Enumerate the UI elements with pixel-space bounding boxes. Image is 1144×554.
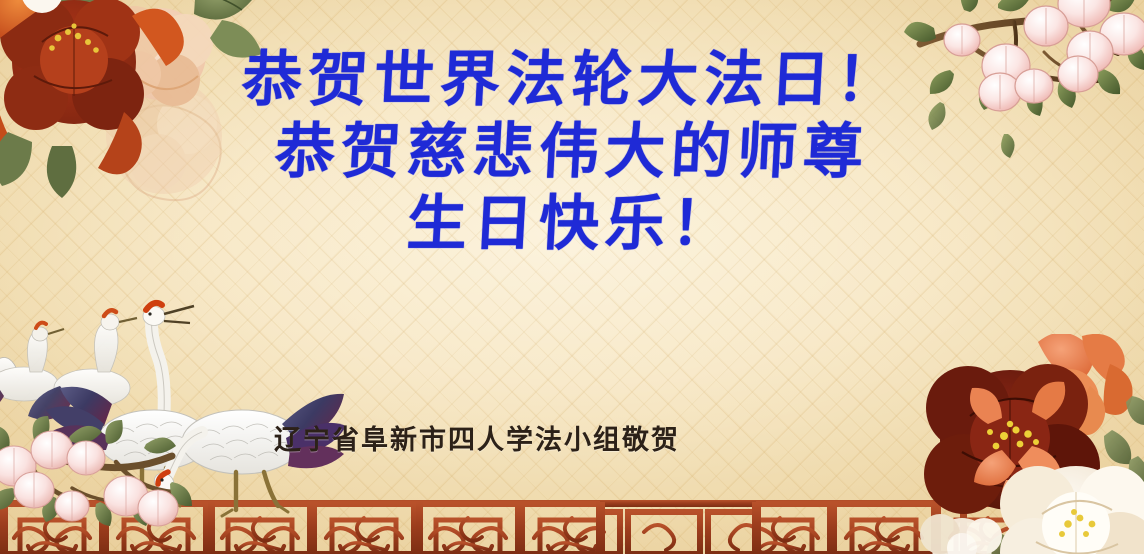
greeting-line-2: 恭贺慈悲伟大的师尊 (0, 116, 1144, 188)
signature-text: 辽宁省阜新市四人学法小组敬贺 (274, 425, 680, 456)
greeting-message: 恭贺世界法轮大法日！ 恭贺慈悲伟大的师尊 生日快乐！ (0, 44, 1144, 260)
greeting-card: 恭贺世界法轮大法日！ 恭贺慈悲伟大的师尊 生日快乐！ 辽宁省阜新市四人学法小组敬… (0, 0, 1144, 554)
signature-block: 辽宁省阜新市四人学法小组敬贺 (0, 418, 1144, 457)
crane-bottom-left-decoration (0, 292, 346, 532)
greeting-line-3: 生日快乐！ (0, 188, 1144, 260)
lattice-railing-bottom-border (0, 498, 1144, 554)
greeting-line-1: 恭贺世界法轮大法日！ (0, 44, 1144, 116)
